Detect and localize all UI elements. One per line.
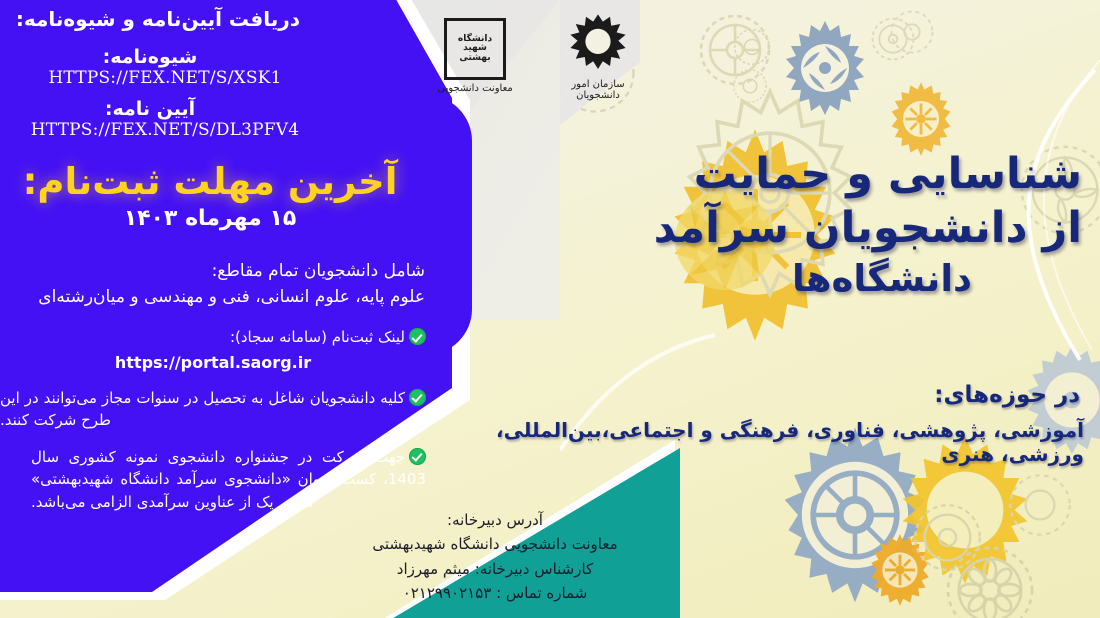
list-item: جهت شرکت در جشنواره دانشجوی نمونه کشوری … [31, 446, 430, 514]
download-2-label: آیین نامه: [0, 96, 300, 123]
shahid-beheshti-university-mark: دانشگاه شهید بهشتی [444, 18, 506, 80]
shahid-beheshti-university-caption: معاونت دانشجویی [420, 83, 530, 94]
shahid-beheshti-university-logo: دانشگاه شهید بهشتی معاونت دانشجویی [420, 18, 530, 94]
bullet-1-text: لینک ثبت‌نام (سامانه سجاد): [230, 328, 405, 346]
registration-url[interactable]: https://portal.saorg.ir [0, 351, 426, 375]
fields-list: آموزشی، پژوهشی، فناوری، فرهنگی و اجتماعی… [464, 418, 1084, 466]
poster-canvas: دانشگاه شهید بهشتی معاونت دانشجویی سازما… [0, 0, 1100, 618]
poster-title: شناسایی و حمایت از دانشجویان سرآمد دانشگ… [522, 148, 1082, 302]
secretariat-line-1: معاونت دانشجویی دانشگاه شهیدبهشتی [330, 532, 660, 556]
download-item-2: آیین نامه: [0, 96, 300, 123]
fields-label: در حوزه‌های: [540, 382, 1080, 408]
downloads-heading: دریافت آیین‌نامه و شیوه‌نامه: [0, 6, 300, 33]
scope-block: شامل دانشجویان تمام مقاطع: علوم پایه، عل… [0, 258, 425, 311]
gear-outline-tiny-d-icon [880, 0, 944, 64]
title-line-2: از دانشجویان سرآمد [522, 202, 1082, 256]
bullet-2-text: کلیه دانشجویان شاغل به تحصیل در سنوات مج… [0, 389, 405, 430]
download-item-1: شیوه‌نامه: [0, 44, 300, 71]
title-line-1: شناسایی و حمایت [694, 149, 1082, 199]
download-1-label: شیوه‌نامه: [0, 44, 300, 71]
deadline-date: ۱۵ مهرماه ۱۴۰۳ [0, 206, 420, 231]
title-line-3: دانشگاه‌ها [522, 256, 972, 302]
scope-line-1: شامل دانشجویان تمام مقاطع: [0, 258, 425, 284]
list-item: لینک ثبت‌نام (سامانه سجاد): https://port… [0, 326, 430, 375]
download-2-url[interactable]: HTTPS://FEX.NET/S/DL3PFV4 [0, 120, 330, 140]
starburst-icon [568, 12, 628, 72]
student-affairs-caption-line1: سازمان امور [538, 79, 658, 90]
bullet-3-text: جهت شرکت در جشنواره دانشجوی نمونه کشوری … [31, 448, 426, 511]
bullet-list: لینک ثبت‌نام (سامانه سجاد): https://port… [0, 326, 430, 521]
check-circle-icon [409, 328, 426, 345]
secretariat-heading: آدرس دبیرخانه: [330, 508, 660, 532]
check-circle-icon [409, 448, 426, 465]
download-1-url[interactable]: HTTPS://FEX.NET/S/XSK1 [0, 68, 330, 88]
list-item: کلیه دانشجویان شاغل به تحصیل در سنوات مج… [0, 387, 430, 432]
scope-line-2: علوم پایه، علوم انسانی، فنی و مهندسی و م… [0, 284, 425, 310]
logo-group: دانشگاه شهید بهشتی معاونت دانشجویی سازما… [420, 4, 670, 116]
deadline-heading: آخرین مهلت ثبت‌نام: [0, 160, 420, 203]
gear-outline-bottom-c-icon [995, 460, 1085, 550]
student-affairs-organization-logo: سازمان امور دانشجویان [538, 12, 658, 101]
student-affairs-caption-line2: دانشجویان [538, 90, 658, 101]
secretariat-line-2: کارشناس دبیرخانه: میثم مهرزاد [330, 557, 660, 581]
secretariat-phone: شماره تماس : ۰۲۱۲۹۹۰۲۱۵۳ [330, 581, 660, 605]
secretariat-block: آدرس دبیرخانه: معاونت دانشجویی دانشگاه ش… [330, 508, 660, 605]
check-circle-icon [409, 389, 426, 406]
